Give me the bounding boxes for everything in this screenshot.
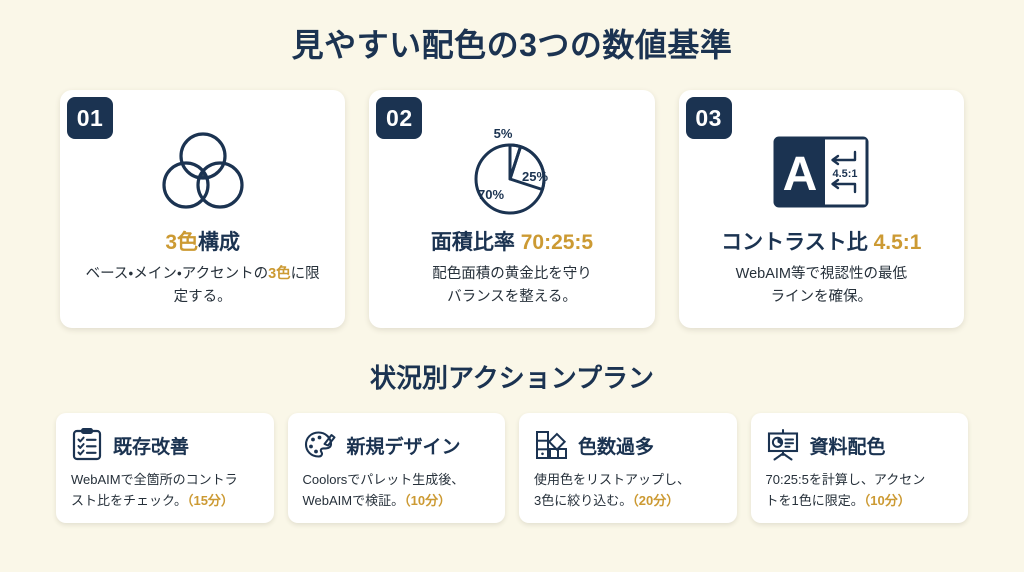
desc-part-1: WebAIM等で視認性の最低: [736, 266, 907, 282]
criteria-card-2-heading: 面積比率 70:25:5: [431, 226, 593, 256]
pie-label-5: 5%: [494, 126, 513, 141]
action-card-new-design[interactable]: 新規デザイン Coolorsでパレット生成後、 WebAIMで検証。（10分）: [288, 413, 506, 523]
criteria-card-1[interactable]: 01 3色構成: [60, 90, 345, 328]
pie-label-25: 25%: [522, 169, 548, 184]
heading-value-text: 70:25:5: [521, 231, 593, 254]
action-card-time: （20分）: [632, 493, 679, 508]
heading-rest-text: 構成: [198, 231, 240, 254]
action-card-existing-improvement[interactable]: 既存改善 WebAIMで全箇所のコントラ スト比をチェック。（15分）: [56, 413, 274, 523]
contrast-ratio-label: 4.5:1: [833, 168, 858, 180]
action-card-description: Coolorsでパレット生成後、 WebAIMで検証。（10分）: [303, 470, 491, 512]
action-card-title: 新規デザイン: [347, 432, 461, 459]
action-card-description: 70:25:5を計算し、アクセン トを1色に限定。（10分）: [766, 470, 954, 512]
criteria-card-2-description: 配色面積の黄金比を守り バランスを整える。: [412, 263, 612, 308]
action-card-title: 既存改善: [113, 432, 189, 459]
heading-rest-text: 面積比率: [431, 231, 515, 254]
criteria-card-1-heading: 3色構成: [165, 226, 240, 256]
desc-line-1: 70:25:5を計算し、アクセン: [766, 472, 926, 487]
action-card-time: （10分）: [864, 493, 911, 508]
action-card-description: WebAIMで全箇所のコントラ スト比をチェック。（15分）: [71, 470, 259, 512]
desc-accent: 3色: [268, 266, 291, 282]
desc-part-2: ラインを確保。: [771, 289, 873, 305]
action-card-time: （10分）: [404, 493, 451, 508]
action-card-title: 資料配色: [810, 432, 886, 459]
desc-line-2: スト比をチェック。: [71, 493, 187, 508]
venn-three-circles-icon: [155, 126, 251, 218]
heading-rest-text: コントラスト比: [721, 231, 868, 254]
heading-value-text: 4.5:1: [874, 231, 922, 254]
action-card-title: 色数過多: [578, 432, 654, 459]
card-badge-number: 03: [686, 97, 732, 139]
pie-label-70: 70%: [478, 187, 504, 202]
palette-brush-icon: [303, 428, 337, 462]
card-badge-number: 01: [67, 97, 113, 139]
desc-part-2: トの: [239, 266, 268, 282]
heading-accent-text: 3色: [165, 231, 198, 254]
card-badge-number: 02: [376, 97, 422, 139]
desc-part-2: バランスを整える。: [447, 289, 577, 305]
desc-line-2: トを1色に限定。: [766, 493, 864, 508]
action-cards-row: 既存改善 WebAIMで全箇所のコントラ スト比をチェック。（15分）: [0, 413, 1024, 523]
action-card-time: （15分）: [187, 493, 234, 508]
desc-part-1: 配色面積の黄金比を守り: [432, 266, 592, 282]
desc-line-1: 使用色をリストアップし、: [534, 472, 690, 487]
action-card-header: 既存改善: [71, 427, 259, 462]
action-card-document-colors[interactable]: 資料配色 70:25:5を計算し、アクセン トを1色に限定。（10分）: [751, 413, 969, 523]
checklist-clipboard-icon: [71, 428, 103, 462]
section-title: 状況別アクションプラン: [0, 358, 1024, 395]
pie-chart-icon: 5% 25% 70%: [447, 126, 577, 218]
desc-line-1: WebAIMで全箇所のコントラ: [71, 472, 238, 487]
action-card-description: 使用色をリストアップし、 3色に絞り込む。（20分）: [534, 470, 722, 512]
color-swatch-fan-icon: [534, 428, 568, 462]
desc-line-2: WebAIMで検証。: [303, 493, 405, 508]
presentation-board-icon: [766, 428, 800, 462]
criteria-cards-row: 01 3色構成: [0, 90, 1024, 328]
contrast-letter-a-icon: A 4.5:1: [771, 126, 871, 218]
desc-part-1: ベース・メイン・アクセン: [86, 266, 239, 282]
page-title: 見やすい配色の3つの数値基準: [0, 0, 1024, 64]
criteria-card-3[interactable]: 03 A 4.5:1 コントラスト比 4.5:1: [679, 90, 964, 328]
desc-line-2: 3色に絞り込む。: [534, 493, 632, 508]
contrast-letter: A: [783, 148, 818, 201]
action-card-header: 色数過多: [534, 427, 722, 462]
action-card-header: 新規デザイン: [303, 427, 491, 462]
slide-root: 見やすい配色の3つの数値基準 01: [0, 0, 1024, 572]
action-card-header: 資料配色: [766, 427, 954, 462]
desc-line-1: Coolorsでパレット生成後、: [303, 472, 465, 487]
action-card-too-many-colors[interactable]: 色数過多 使用色をリストアップし、 3色に絞り込む。（20分）: [519, 413, 737, 523]
criteria-card-1-description: ベース・メイン・アクセントの3色に限定する。: [60, 263, 345, 308]
criteria-card-2[interactable]: 02 5% 25% 70% 面積比率 70:25:5: [369, 90, 654, 328]
criteria-card-3-description: WebAIM等で視認性の最低 ラインを確保。: [716, 263, 927, 308]
criteria-card-3-heading: コントラスト比 4.5:1: [721, 226, 921, 256]
